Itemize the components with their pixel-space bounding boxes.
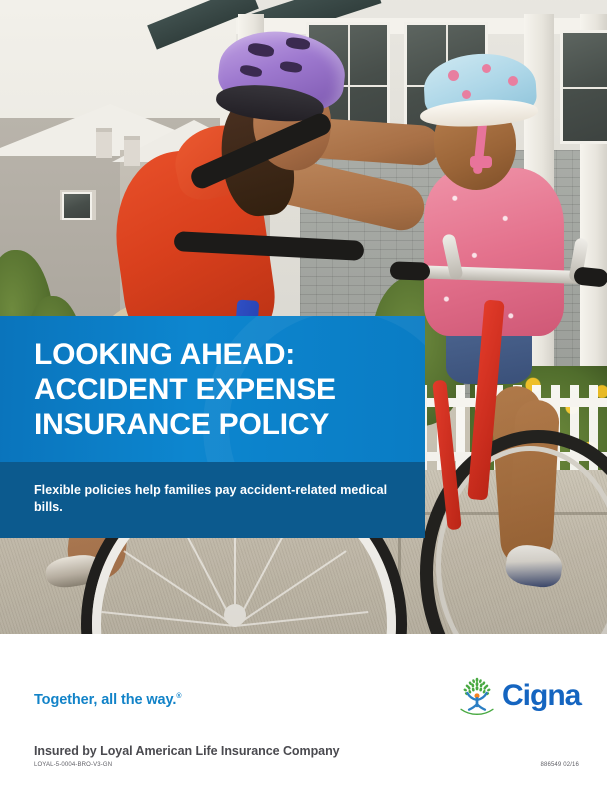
helmet-pattern-dot [482, 64, 491, 73]
page-title-line-1: LOOKING AHEAD: [34, 338, 295, 371]
helmet-pattern-dot [508, 76, 518, 86]
page-title-line-2: ACCIDENT EXPENSE [34, 373, 336, 406]
cigna-wordmark-mark: . [580, 697, 583, 707]
headline-banner-top: LOOKING AHEAD: ACCIDENT EXPENSE INSURANC… [0, 316, 425, 462]
cigna-wordmark: Cigna. [502, 681, 583, 711]
page-title: LOOKING AHEAD: ACCIDENT EXPENSE INSURANC… [34, 338, 395, 442]
headline-banner-bottom: Flexible policies help families pay acci… [0, 462, 425, 538]
registered-trademark-icon: ® [176, 693, 181, 700]
brand-tagline: Together, all the way.® [34, 692, 181, 708]
form-code: LOYAL-5-0004-BRO-V3-GN [34, 762, 112, 768]
helmet-pattern-dot [448, 70, 459, 81]
red-bike-grip-left [390, 261, 431, 280]
insured-by-line: Insured by Loyal American Life Insurance… [34, 744, 340, 758]
chimney-right [124, 136, 140, 166]
page-title-line-3: INSURANCE POLICY [34, 408, 329, 441]
page-footer: Together, all the way.® [0, 634, 607, 786]
brochure-page: LOOKING AHEAD: ACCIDENT EXPENSE INSURANC… [0, 0, 607, 786]
cigna-wordmark-text: Cigna [502, 679, 580, 712]
house-background-window [62, 192, 92, 220]
brand-tagline-text: Together, all the way. [34, 692, 176, 708]
headline-banner: LOOKING AHEAD: ACCIDENT EXPENSE INSURANC… [0, 316, 425, 538]
helmet-pattern-dot [462, 90, 471, 99]
girl-helmet-strap-buckle [470, 156, 492, 168]
wheel-hub [224, 604, 246, 626]
house-window-side [560, 30, 607, 144]
document-code: 886549 02/16 [540, 762, 579, 768]
page-subtitle: Flexible policies help families pay acci… [34, 482, 395, 516]
chimney-left [96, 128, 112, 158]
cigna-logo: Cigna. [456, 674, 583, 716]
cigna-tree-of-life-icon [456, 674, 498, 716]
